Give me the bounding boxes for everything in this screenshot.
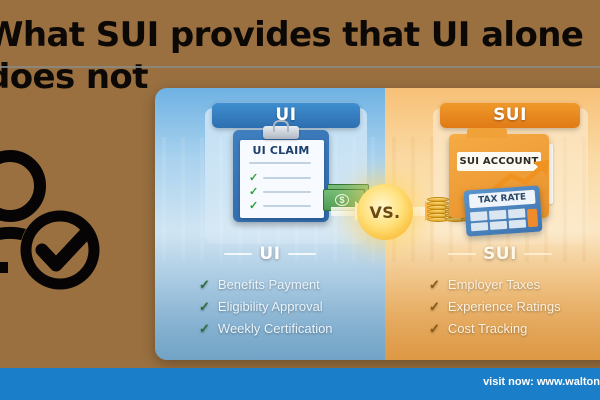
list-item-label: Employer Taxes [448, 277, 540, 292]
ui-section-label: UI [259, 244, 280, 264]
ui-claim-label: UI CLAIM [233, 144, 329, 157]
list-item: ✓ Weekly Certification [199, 317, 385, 339]
title-divider [0, 66, 600, 68]
person-check-icon [0, 140, 132, 300]
check-icon: ✓ [429, 278, 440, 291]
footer-visit-text[interactable]: visit now: www.walton [483, 376, 600, 388]
ui-feature-list: ✓ Benefits Payment ✓ Eligibility Approva… [155, 273, 385, 339]
footer-bar: visit now: www.walton [0, 368, 600, 400]
sui-section-header: SUI [385, 244, 600, 264]
check-icon: ✓ [429, 322, 440, 335]
list-item: ✓ Employer Taxes [429, 273, 600, 295]
slide-canvas: What SUI provides that UI alone does not… [0, 0, 600, 400]
list-item-label: Weekly Certification [218, 321, 333, 336]
check-icon: ✓ [199, 322, 210, 335]
list-item-label: Cost Tracking [448, 321, 527, 336]
versus-badge: VS. [357, 184, 413, 240]
check-icon: ✓ [429, 300, 440, 313]
check-icon: ✓ [199, 278, 210, 291]
list-item-label: Experience Ratings [448, 299, 561, 314]
list-item: ✓ Experience Ratings [429, 295, 600, 317]
tab-sui[interactable]: SUI [440, 102, 580, 128]
rule-left [224, 253, 252, 255]
versus-label: VS. [370, 203, 401, 222]
list-item: ✓ Cost Tracking [429, 317, 600, 339]
list-item-label: Benefits Payment [218, 277, 320, 292]
comparison-illustration-panel: UI SUI UI CLAIM ✓ ✓ ✓ $ [155, 88, 600, 360]
ui-section-header: UI [155, 244, 385, 264]
rule-right [288, 253, 316, 255]
rule-right [524, 253, 552, 255]
list-item: ✓ Benefits Payment [199, 273, 385, 295]
check-icon: ✓ [199, 300, 210, 313]
page-title: What SUI provides that UI alone does not [0, 14, 600, 98]
rule-left [448, 253, 476, 255]
list-item: ✓ Eligibility Approval [199, 295, 385, 317]
tax-rate-calculator-icon: TAX RATE [463, 185, 542, 236]
ui-claim-clipboard-icon: UI CLAIM ✓ ✓ ✓ [233, 130, 329, 222]
list-item-label: Eligibility Approval [218, 299, 323, 314]
sui-section-label: SUI [483, 244, 517, 264]
sui-feature-list: ✓ Employer Taxes ✓ Experience Ratings ✓ … [385, 273, 600, 339]
tax-rate-label: TAX RATE [469, 190, 536, 209]
